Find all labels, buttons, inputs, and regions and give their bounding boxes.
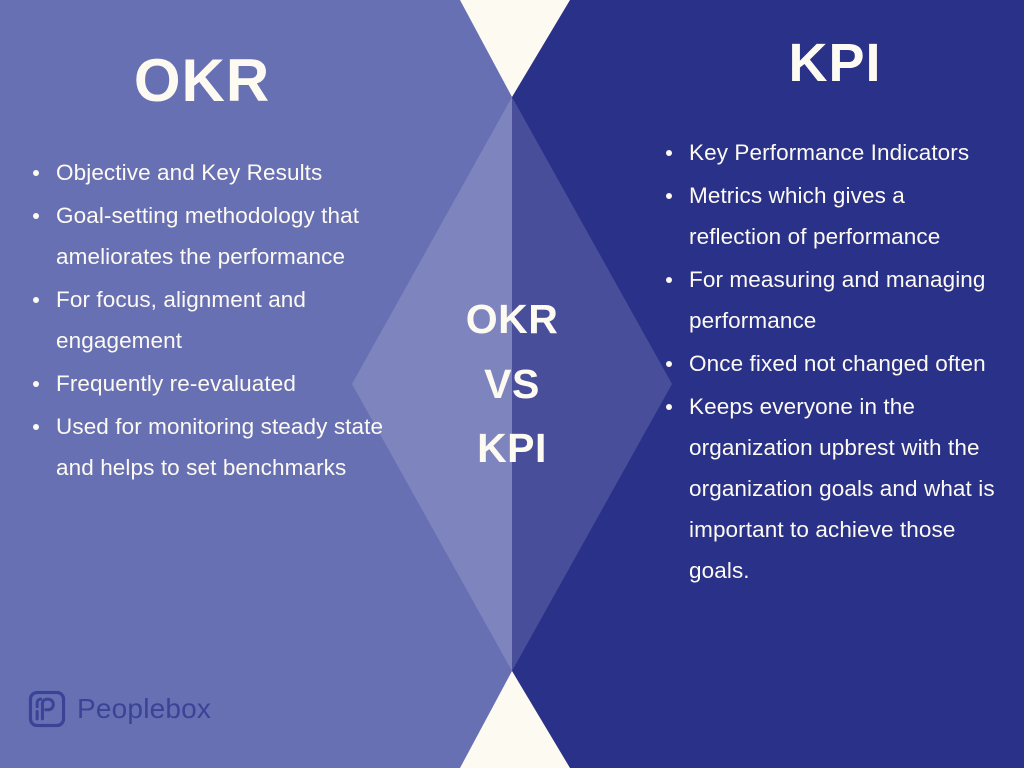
list-item: Keeps everyone in the organization upbre… xyxy=(657,386,1002,591)
peoplebox-logo-icon xyxy=(28,690,66,728)
list-item: Metrics which gives a reflection of perf… xyxy=(657,175,1002,257)
list-item-label: For focus, alignment and engagement xyxy=(56,287,306,353)
list-item-label: Goal-setting methodology that ameliorate… xyxy=(56,203,359,269)
list-item-label: For measuring and managing performance xyxy=(689,267,986,333)
center-line-kpi: KPI xyxy=(477,416,547,481)
list-item: Once fixed not changed often xyxy=(657,343,1002,384)
infographic-canvas: OKR KPI Objective and Key Results Goal-s… xyxy=(0,0,1024,768)
bullet-dot-icon xyxy=(33,381,39,387)
list-item: Goal-setting methodology that ameliorate… xyxy=(24,195,386,277)
bullet-dot-icon xyxy=(33,424,39,430)
list-item-label: Frequently re-evaluated xyxy=(56,371,296,396)
list-item-label: Used for monitoring steady state and hel… xyxy=(56,414,383,480)
bullet-dot-icon xyxy=(33,297,39,303)
list-item: Frequently re-evaluated xyxy=(24,363,386,404)
bullet-dot-icon xyxy=(666,150,672,156)
list-item: For focus, alignment and engagement xyxy=(24,279,386,361)
list-item: For measuring and managing performance xyxy=(657,259,1002,341)
kpi-title: KPI xyxy=(650,32,1020,94)
list-item-label: Once fixed not changed often xyxy=(689,351,986,376)
list-item: Key Performance Indicators xyxy=(657,132,1002,173)
list-item-label: Metrics which gives a reflection of perf… xyxy=(689,183,940,249)
kpi-bullet-list: Key Performance Indicators Metrics which… xyxy=(657,132,1002,593)
center-line-vs: VS xyxy=(484,352,540,417)
bullet-dot-icon xyxy=(33,170,39,176)
list-item: Used for monitoring steady state and hel… xyxy=(24,406,386,488)
okr-bullet-list: Objective and Key Results Goal-setting m… xyxy=(24,152,386,490)
peoplebox-logo-text: Peoplebox xyxy=(77,695,211,723)
list-item-label: Keeps everyone in the organization upbre… xyxy=(689,394,995,583)
list-item-label: Key Performance Indicators xyxy=(689,140,969,165)
bullet-dot-icon xyxy=(33,213,39,219)
peoplebox-logo: Peoplebox xyxy=(28,690,211,728)
bullet-dot-icon xyxy=(666,404,672,410)
bullet-dot-icon xyxy=(666,277,672,283)
bullet-dot-icon xyxy=(666,193,672,199)
okr-title: OKR xyxy=(0,46,404,115)
bullet-dot-icon xyxy=(666,361,672,367)
list-item: Objective and Key Results xyxy=(24,152,386,193)
center-line-okr: OKR xyxy=(466,287,559,352)
list-item-label: Objective and Key Results xyxy=(56,160,322,185)
